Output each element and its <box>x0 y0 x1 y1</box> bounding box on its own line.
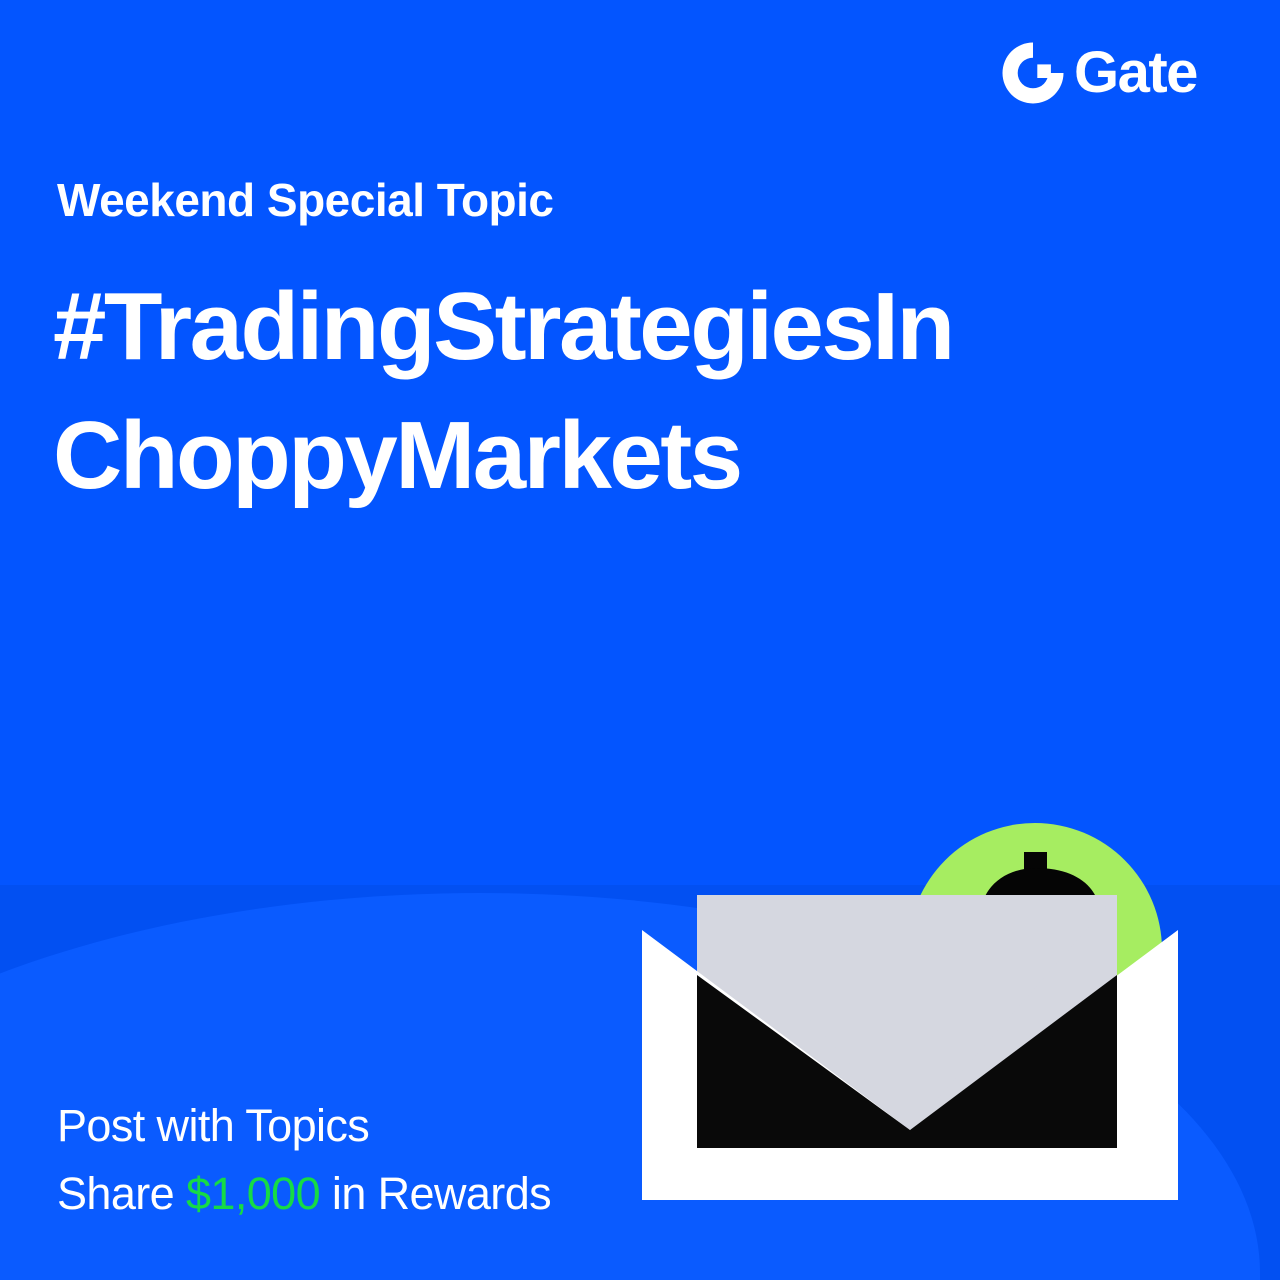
cta-line-1: Post with Topics <box>57 1092 551 1160</box>
eyebrow-text: Weekend Special Topic <box>57 172 554 228</box>
gate-circle-mark-icon <box>1002 42 1064 104</box>
cta-line-2: Share $1,000 in Rewards <box>57 1160 551 1228</box>
promo-poster: Gate Weekend Special Topic #TradingStrat… <box>0 0 1280 1280</box>
gate-wordmark: Gate <box>1074 42 1197 104</box>
reward-amount: $1,000 <box>186 1168 320 1219</box>
cta-suffix: in Rewards <box>320 1168 551 1219</box>
cta-prefix: Share <box>57 1168 186 1219</box>
gate-logo[interactable]: Gate <box>1002 42 1197 104</box>
envelope-illustration <box>620 680 1200 1220</box>
cta-text: Post with Topics Share $1,000 in Rewards <box>57 1092 551 1228</box>
page-title: #TradingStrategiesInChoppyMarkets <box>53 262 953 520</box>
